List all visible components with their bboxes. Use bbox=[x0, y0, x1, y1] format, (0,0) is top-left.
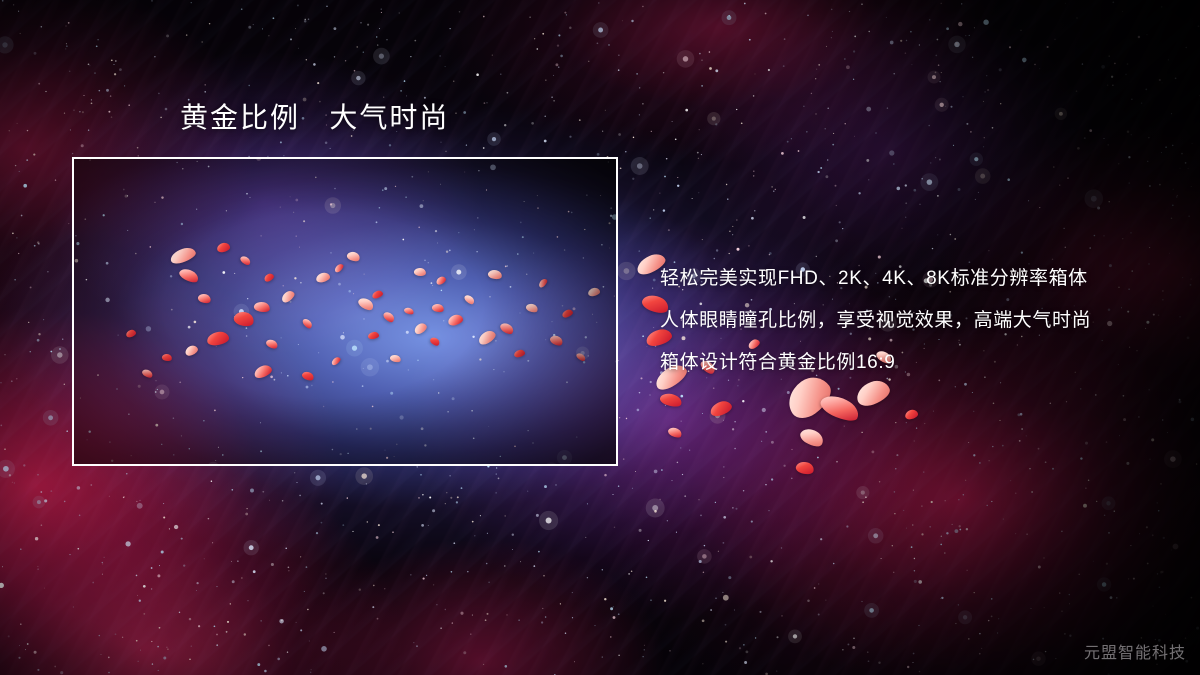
slide-canvas: 黄金比例 大气时尚 轻松完美实现FHD、2K、4K、8K标准分辨率箱体 人体眼睛… bbox=[0, 0, 1200, 675]
preview-shade-overlay bbox=[74, 159, 616, 464]
petal bbox=[904, 409, 919, 421]
page-title: 黄金比例 大气时尚 bbox=[180, 100, 449, 135]
petal bbox=[667, 425, 684, 439]
body-copy: 轻松完美实现FHD、2K、4K、8K标准分辨率箱体 人体眼睛瞳孔比例，享受视觉效… bbox=[660, 258, 1180, 384]
petal bbox=[798, 425, 826, 450]
copy-line-1: 轻松完美实现FHD、2K、4K、8K标准分辨率箱体 bbox=[660, 258, 1180, 300]
petal bbox=[795, 460, 816, 476]
watermark: 元盟智能科技 bbox=[1084, 639, 1186, 663]
preview-inner bbox=[74, 159, 616, 464]
copy-line-2: 人体眼睛瞳孔比例，享受视觉效果，高端大气时尚 bbox=[660, 300, 1180, 342]
petal bbox=[659, 391, 684, 409]
preview-frame bbox=[72, 157, 618, 466]
petal bbox=[709, 399, 734, 418]
copy-line-3: 箱体设计符合黄金比例16:9 bbox=[660, 342, 1180, 384]
